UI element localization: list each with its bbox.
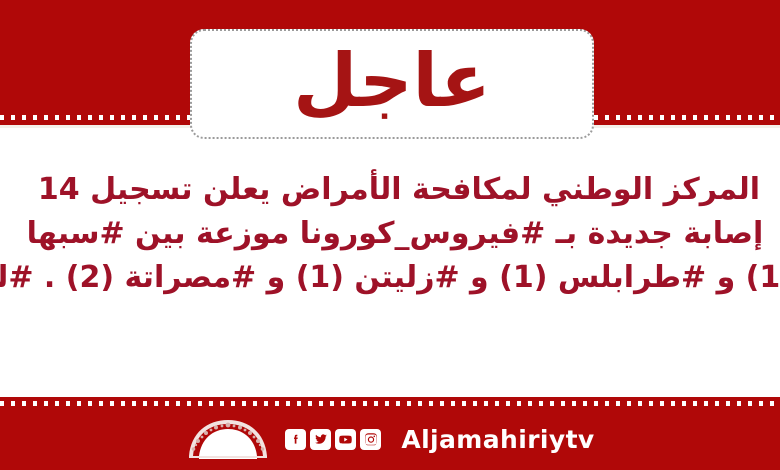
footer-content: Aljamahiriytv <box>0 411 780 467</box>
news-line-2: إصابة جديدة بـ #فيروس_كورونا موزعة بين #… <box>0 212 780 256</box>
youtube-icon[interactable] <box>335 429 356 450</box>
social-handle: Aljamahiriytv <box>401 425 594 454</box>
bottom-band-dotted-line <box>0 401 780 406</box>
twitter-icon[interactable] <box>310 429 331 450</box>
instagram-icon[interactable] <box>360 429 381 450</box>
news-line-3: (1) و #طرابلس (1) و #زليتن (1) و #مصراتة… <box>0 256 780 300</box>
bottom-red-band: Aljamahiriytv <box>0 397 780 470</box>
aljamahiriya-dome-logo <box>185 416 271 462</box>
breaking-badge-plate: عاجل <box>190 29 594 139</box>
social-icon-group <box>285 429 381 450</box>
news-body: المركز الوطني لمكافحة الأمراض يعلن تسجيل… <box>0 168 780 358</box>
news-line-1: المركز الوطني لمكافحة الأمراض يعلن تسجيل… <box>0 168 780 212</box>
breaking-news-card: عاجل المركز الوطني لمكافحة الأمراض يعلن … <box>0 0 780 470</box>
facebook-icon[interactable] <box>285 429 306 450</box>
breaking-badge-label: عاجل <box>293 44 491 118</box>
